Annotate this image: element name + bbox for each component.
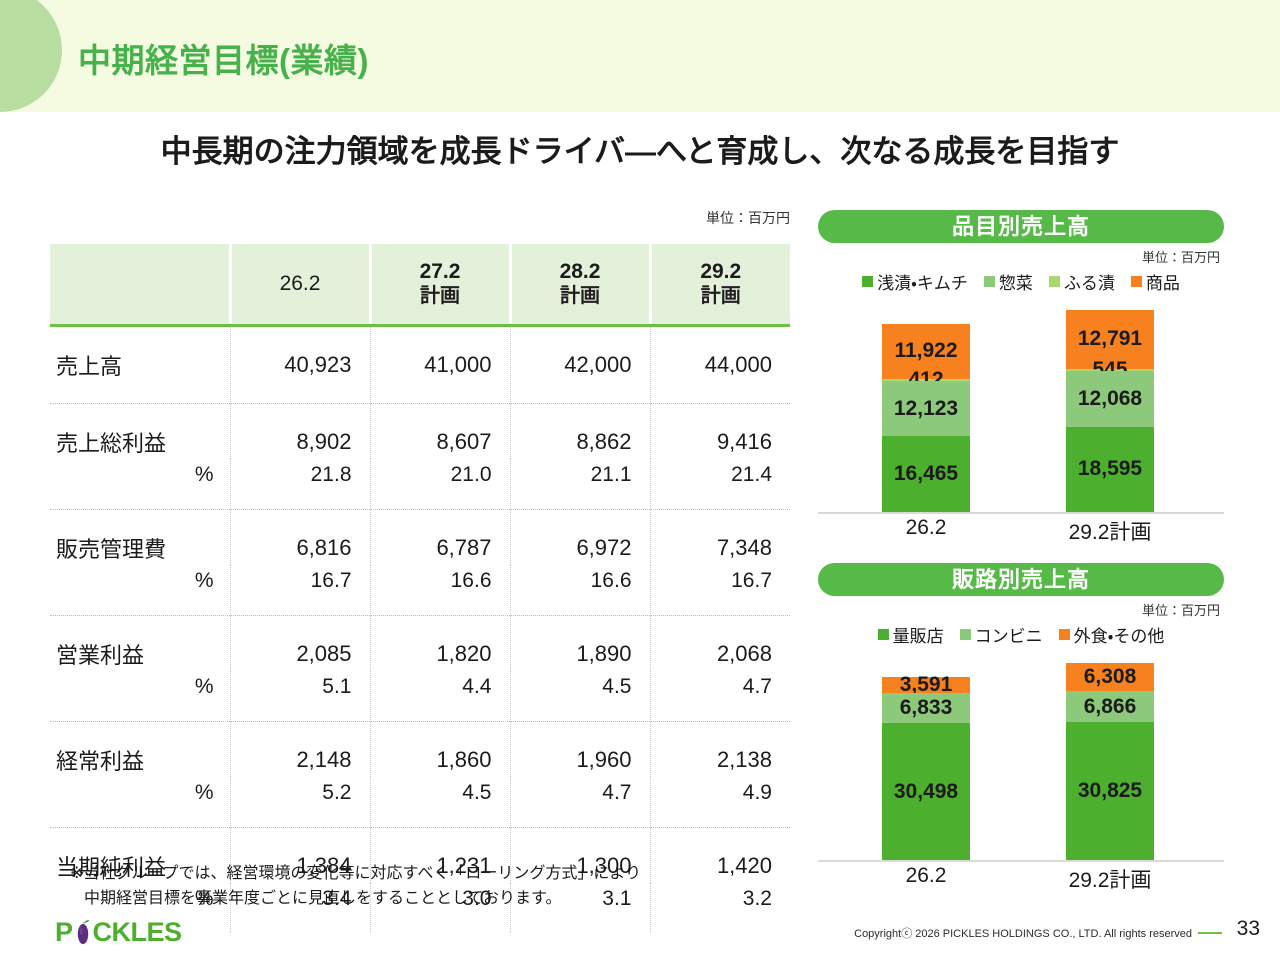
table-row: 売上高40,92341,00042,00044,000 (50, 326, 790, 404)
row-label-percent: % (50, 459, 230, 510)
x-axis-label: 26.2 (856, 864, 996, 888)
header-year: 27.2 (372, 260, 509, 285)
table-cell: 1,820 (370, 616, 510, 671)
table-cell: 1,860 (370, 722, 510, 777)
legend-swatch-icon (878, 629, 889, 640)
header-sub: 計画 (652, 285, 791, 309)
table-cell: 6,787 (370, 510, 510, 565)
slide-subtitle: 中長期の注力領域を成長ドライバ―へと育成し、次なる成長を目指す (0, 126, 1280, 171)
table-cell: 9,416 (650, 404, 790, 459)
header-year: 26.2 (232, 272, 369, 297)
bar-value-label: 30,498 (894, 780, 958, 804)
legend-swatch-icon (1131, 276, 1142, 287)
x-axis-label: 29.2計画 (1040, 864, 1180, 894)
table-cell: 8,902 (230, 404, 370, 459)
bar-value-label: 12,068 (1078, 387, 1142, 411)
legend-label: 惣菜 (999, 269, 1033, 294)
chart-item-sales: 品目別売上高 単位：百万円 浅漬・キムチ惣菜ふる漬商品 11,92241212,… (818, 210, 1224, 546)
chart-xlabels-item-sales: 26.229.2計画 (818, 514, 1224, 546)
legend-item: ふる漬 (1049, 269, 1115, 294)
bar-segment-外食・その他: 3,591 (882, 677, 970, 693)
page-title: 中期経営目標(業績) (78, 44, 369, 77)
table-row-percent: %16.716.616.616.7 (50, 565, 790, 616)
legend-item: 浅漬・キムチ (862, 269, 968, 294)
bar-value-label: 6,866 (1084, 695, 1137, 719)
table-cell: 8,862 (510, 404, 650, 459)
table-cell-percent: 5.1 (230, 671, 370, 722)
chart-title-item-sales: 品目別売上高 (818, 210, 1224, 243)
bar-stack: 11,92241212,12316,465 (882, 324, 970, 512)
financial-table: 26.227.2計画28.2計画29.2計画 売上高40,92341,00042… (50, 244, 790, 933)
legend-item: 外食・その他 (1059, 622, 1165, 647)
legend-label: コンビニ (975, 622, 1043, 647)
table-body: 売上高40,92341,00042,00044,000売上総利益8,9028,6… (50, 326, 790, 934)
table-cell: 44,000 (650, 326, 790, 404)
chart-legend-item-sales: 浅漬・キムチ惣菜ふる漬商品 (818, 269, 1224, 294)
legend-label: 外食・その他 (1074, 622, 1165, 647)
table-row: 売上総利益8,9028,6078,8629,416 (50, 404, 790, 459)
bar-segment-量販店: 30,498 (882, 723, 970, 860)
bar-value-label: 11,922 (894, 339, 957, 363)
table-header-col-28.2: 28.2計画 (510, 244, 650, 326)
table-cell: 6,972 (510, 510, 650, 565)
chart-plot-item-sales: 11,92241212,12316,46512,79154512,06818,5… (818, 304, 1224, 514)
table-row-percent: %21.821.021.121.4 (50, 459, 790, 510)
table-cell: 2,068 (650, 616, 790, 671)
bar-segment-浅漬・キムチ: 16,465 (882, 436, 970, 512)
table-header: 26.227.2計画28.2計画29.2計画 (50, 244, 790, 326)
bar-segment-外食・その他: 6,308 (1066, 663, 1154, 691)
legend-swatch-icon (984, 276, 995, 287)
table-header-col-26.2: 26.2 (230, 244, 370, 326)
table-cell-percent: 21.0 (370, 459, 510, 510)
table-unit-label: 単位：百万円 (640, 208, 790, 228)
header-year: 28.2 (512, 260, 649, 285)
row-label: 販売管理費 (50, 510, 230, 565)
table-cell-percent: 5.2 (230, 777, 370, 828)
bar-segment-コンビニ: 6,866 (1066, 691, 1154, 722)
table-row: 経常利益2,1481,8601,9602,138 (50, 722, 790, 777)
eggplant-icon (74, 919, 92, 946)
footer-rule (1198, 932, 1222, 934)
legend-swatch-icon (1049, 276, 1060, 287)
table-row: 営業利益2,0851,8201,8902,068 (50, 616, 790, 671)
table-cell-percent: 16.7 (650, 565, 790, 616)
table-cell-percent: 21.1 (510, 459, 650, 510)
table-cell: 6,816 (230, 510, 370, 565)
x-axis-label: 26.2 (856, 516, 996, 540)
logo-text-pre: P (55, 917, 73, 947)
table-header-row: 26.227.2計画28.2計画29.2計画 (50, 244, 790, 326)
legend-swatch-icon (1059, 629, 1070, 640)
table-header-blank (50, 244, 230, 326)
legend-item: 商品 (1131, 269, 1180, 294)
bar-value-label: 6,833 (900, 696, 953, 720)
row-label: 営業利益 (50, 616, 230, 671)
chart-unit-item-sales: 単位：百万円 (818, 247, 1224, 266)
header-year: 29.2 (652, 260, 791, 285)
bar-value-label: 16,465 (894, 462, 958, 486)
chart-plot-channel-sales: 3,5916,83330,4986,3086,86630,825 (818, 657, 1224, 862)
table-cell: 8,607 (370, 404, 510, 459)
row-label: 経常利益 (50, 722, 230, 777)
row-label-percent: % (50, 565, 230, 616)
bar-stack: 3,5916,83330,498 (882, 677, 970, 860)
footnote: ※当社グループでは、経営環境の変化等に対応すべく「ローリング方式」により 中期経… (70, 862, 641, 912)
copyright-text: Copyrightⓒ 2026 PICKLES HOLDINGS CO., LT… (854, 925, 1192, 941)
footnote-line-2: 中期経営目標を事業年度ごとに見直しをすることとしております。 (70, 887, 641, 912)
bar-value-label: 12,791 (1078, 327, 1142, 351)
x-axis-label: 29.2計画 (1040, 516, 1180, 546)
table-row: 販売管理費6,8166,7876,9727,348 (50, 510, 790, 565)
table-cell-percent: 3.2 (650, 883, 790, 933)
legend-item: 量販店 (878, 622, 944, 647)
company-logo: PCKLES (55, 917, 205, 951)
decorative-circle (0, 0, 62, 112)
table-header-col-27.2: 27.2計画 (370, 244, 510, 326)
table-cell: 41,000 (370, 326, 510, 404)
chart-channel-sales: 販路別売上高 単位：百万円 量販店コンビニ外食・その他 3,5916,83330… (818, 563, 1224, 894)
chart-legend-channel-sales: 量販店コンビニ外食・その他 (818, 622, 1224, 647)
table-cell-percent: 21.8 (230, 459, 370, 510)
legend-swatch-icon (960, 629, 971, 640)
legend-label: 商品 (1146, 269, 1180, 294)
row-label-percent: % (50, 671, 230, 722)
table-cell: 7,348 (650, 510, 790, 565)
row-label: 売上総利益 (50, 404, 230, 459)
table-cell-percent: 16.6 (510, 565, 650, 616)
chart-xlabels-channel-sales: 26.229.2計画 (818, 862, 1224, 894)
table-cell-percent: 4.7 (510, 777, 650, 828)
table-cell-percent: 4.9 (650, 777, 790, 828)
header-sub: 計画 (512, 285, 649, 309)
legend-label: 量販店 (893, 622, 944, 647)
table-cell-percent: 4.5 (370, 777, 510, 828)
table-cell-percent: 16.7 (230, 565, 370, 616)
legend-label: 浅漬・キムチ (877, 269, 968, 294)
legend-label: ふる漬 (1064, 269, 1115, 294)
page-number: 33 (1237, 917, 1260, 941)
legend-swatch-icon (862, 276, 873, 287)
table-cell: 2,138 (650, 722, 790, 777)
table-row-percent: %5.24.54.74.9 (50, 777, 790, 828)
footnote-line-1: ※当社グループでは、経営環境の変化等に対応すべく「ローリング方式」により (70, 862, 641, 887)
table-row-percent: %5.14.44.54.7 (50, 671, 790, 722)
logo-text-post: CKLES (93, 917, 182, 947)
bar-value-label: 30,825 (1078, 779, 1142, 803)
bar-segment-コンビニ: 6,833 (882, 693, 970, 724)
bar-segment-惣菜: 12,123 (882, 381, 970, 437)
table-cell: 2,148 (230, 722, 370, 777)
bar-stack: 6,3086,86630,825 (1066, 663, 1154, 860)
legend-item: 惣菜 (984, 269, 1033, 294)
table-cell: 1,960 (510, 722, 650, 777)
table-header-col-29.2: 29.2計画 (650, 244, 790, 326)
row-label: 売上高 (50, 326, 230, 404)
table-cell: 1,890 (510, 616, 650, 671)
bar-segment-量販店: 30,825 (1066, 722, 1154, 860)
table-cell-percent: 4.7 (650, 671, 790, 722)
chart-unit-channel-sales: 単位：百万円 (818, 600, 1224, 619)
table-cell: 40,923 (230, 326, 370, 404)
table-cell-percent: 4.5 (510, 671, 650, 722)
bar-segment-惣菜: 12,068 (1066, 371, 1154, 426)
bar-segment-浅漬・キムチ: 18,595 (1066, 427, 1154, 512)
table-cell-percent: 16.6 (370, 565, 510, 616)
table-cell: 42,000 (510, 326, 650, 404)
bar-value-label: 12,123 (894, 397, 958, 421)
table-cell: 1,420 (650, 828, 790, 883)
legend-item: コンビニ (960, 622, 1043, 647)
table-cell-percent: 21.4 (650, 459, 790, 510)
table-cell: 2,085 (230, 616, 370, 671)
row-label-percent: % (50, 777, 230, 828)
bar-value-label: 18,595 (1078, 457, 1142, 481)
bar-stack: 12,79154512,06818,595 (1066, 310, 1154, 512)
chart-title-channel-sales: 販路別売上高 (818, 563, 1224, 596)
header-sub: 計画 (372, 285, 509, 309)
bar-value-label: 6,308 (1084, 665, 1137, 689)
table-cell-percent: 4.4 (370, 671, 510, 722)
